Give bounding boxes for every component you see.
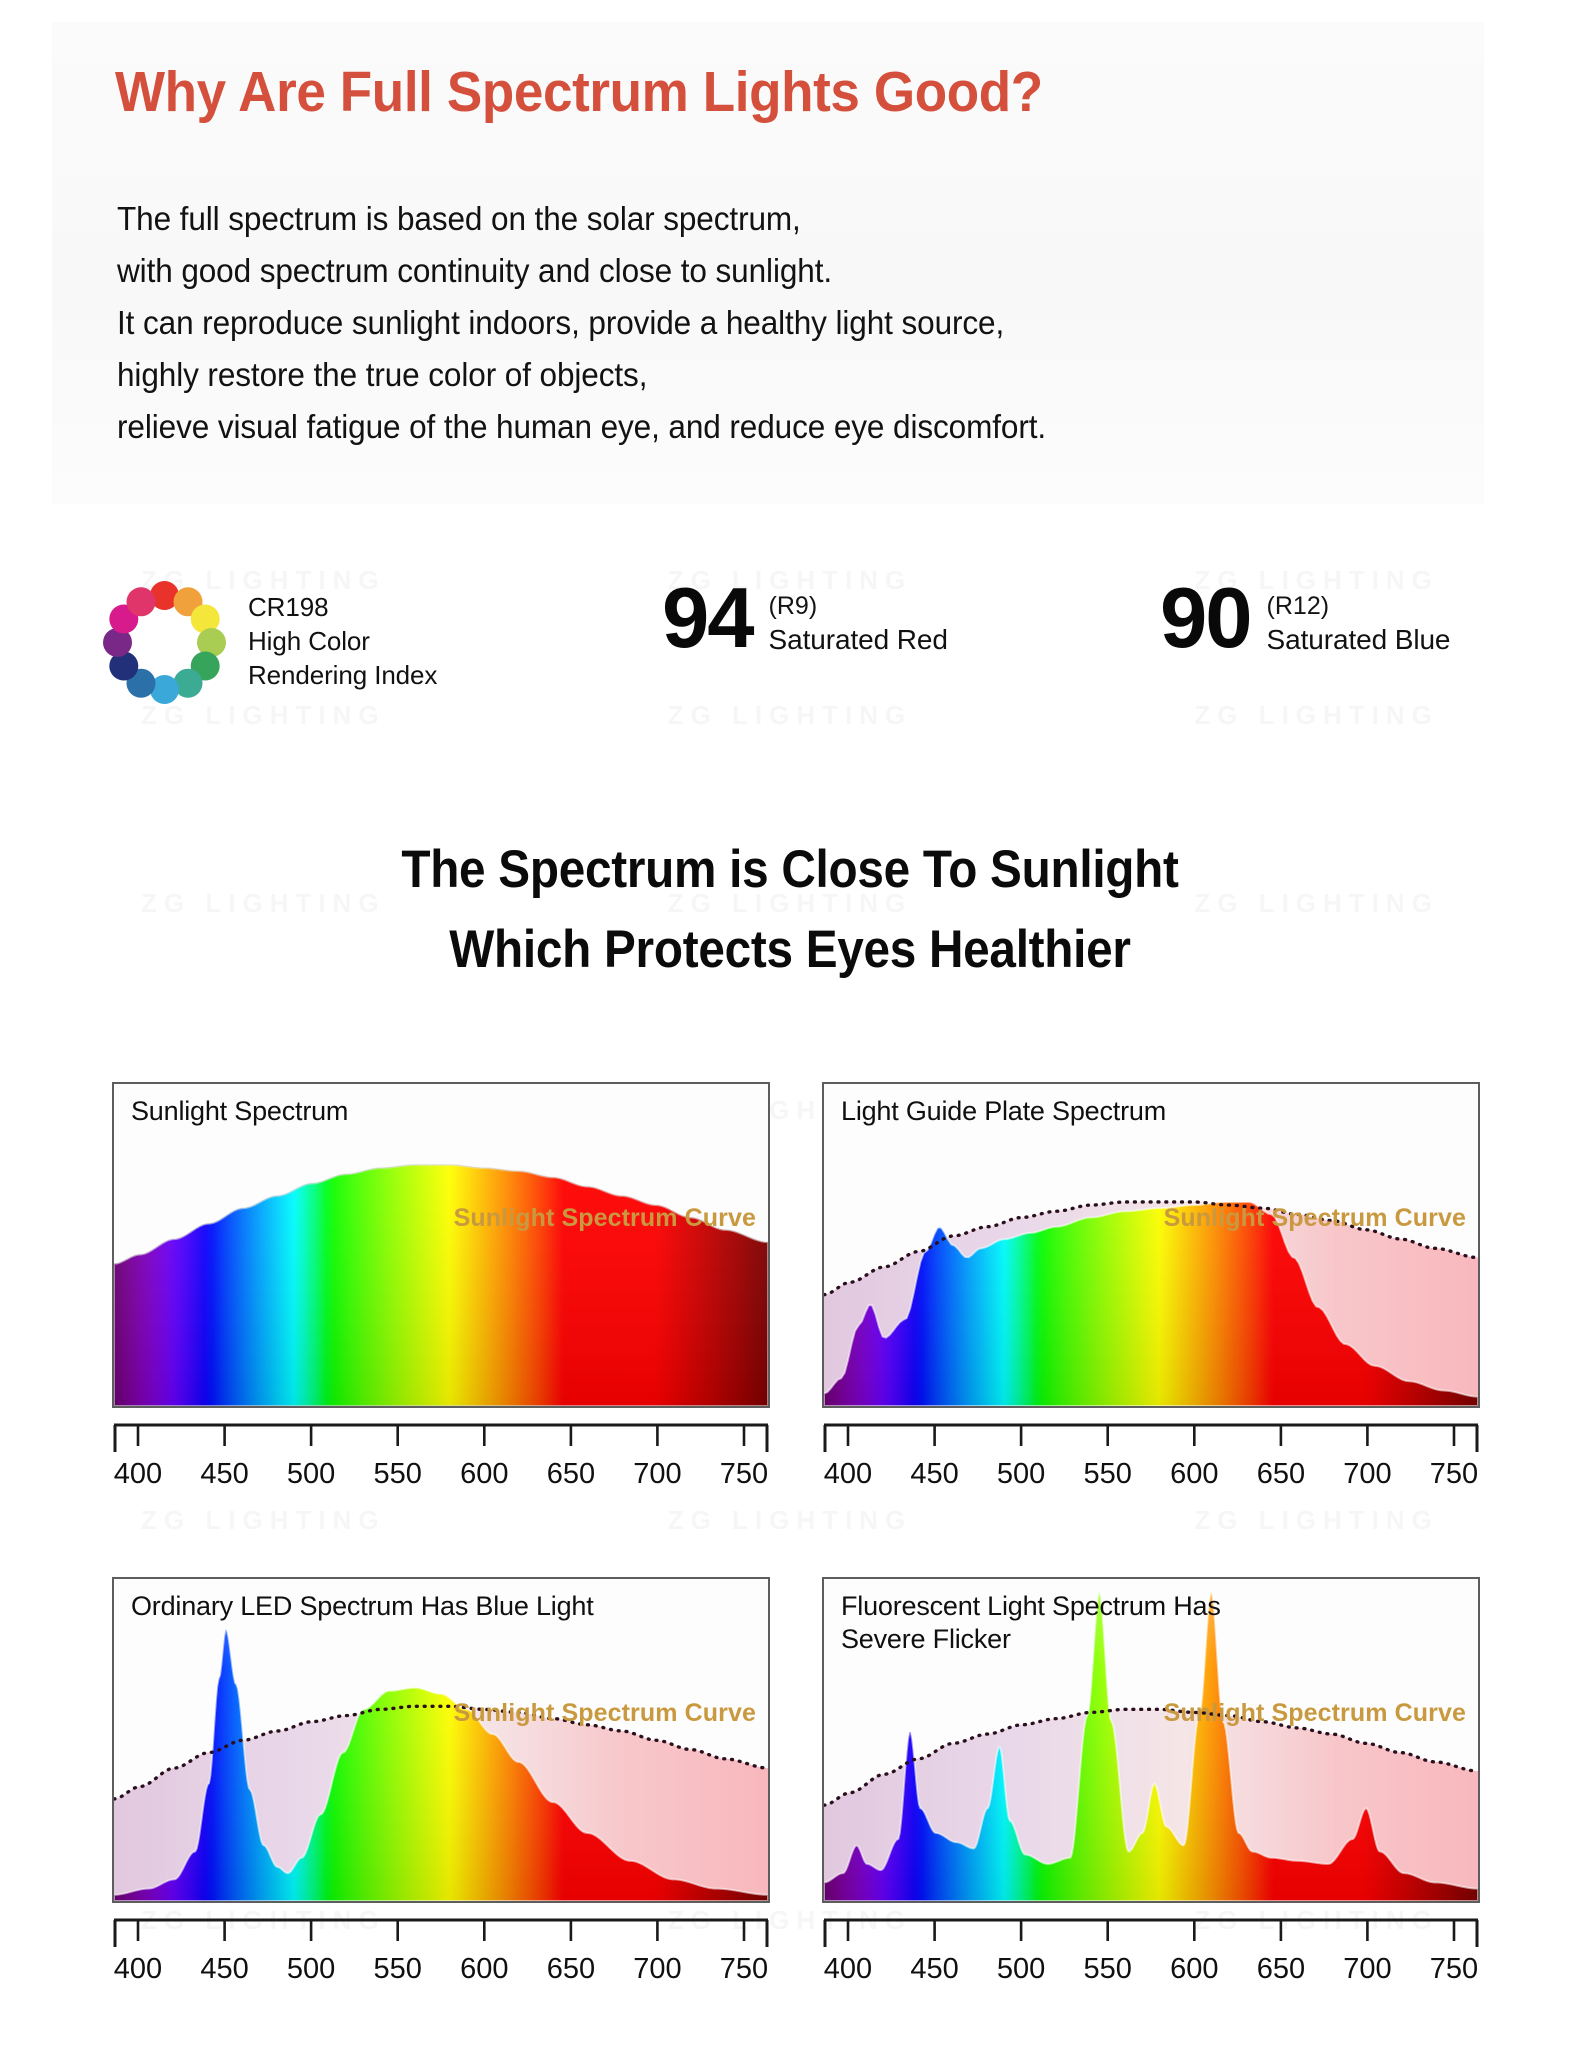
chart-title: Fluorescent Light Spectrum Has Severe Fl…	[841, 1590, 1221, 1656]
axis-tick-label: 550	[373, 1953, 421, 1986]
sunlight-curve-annotation: Sunlight Spectrum Curve	[1164, 1204, 1466, 1233]
chart-row-top: Sunlight Spectrum Sunlight Spectrum Curv…	[0, 1082, 1580, 1577]
chart-cell-fluorescent: Fluorescent Light Spectrum Has Severe Fl…	[822, 1577, 1480, 2005]
x-axis: 400450500550600650700750	[822, 1917, 1480, 2005]
axis-tick-label: 550	[1083, 1458, 1131, 1491]
axis-tick-label: 500	[287, 1953, 335, 1986]
x-axis-ruler	[822, 1917, 1480, 1957]
spectrum-plot-svg	[114, 1084, 768, 1406]
chart-plot-area: Light Guide Plate Spectrum Sunlight Spec…	[822, 1082, 1480, 1408]
intro-line: with good spectrum continuity and close …	[117, 245, 1416, 297]
section-heading: The Spectrum is Close To Sunlight Which …	[0, 830, 1580, 990]
chart-cell-ordinary-led: Ordinary LED Spectrum Has Blue Light Sun…	[112, 1577, 770, 2005]
cri-label-line2: Rendering Index	[248, 659, 437, 693]
chart-cell-light-guide-plate: Light Guide Plate Spectrum Sunlight Spec…	[822, 1082, 1480, 1510]
x-axis-labels: 400450500550600650700750	[822, 1458, 1480, 1502]
axis-tick-label: 700	[1343, 1953, 1391, 1986]
spectrum-chart-grid: Sunlight Spectrum Sunlight Spectrum Curv…	[0, 1082, 1580, 2072]
score-block-r9: 94 (R9) Saturated Red	[662, 578, 948, 660]
axis-tick-label: 650	[547, 1458, 595, 1491]
chart-title: Sunlight Spectrum	[131, 1095, 348, 1128]
axis-tick-label: 700	[633, 1953, 681, 1986]
section-heading-line1: The Spectrum is Close To Sunlight	[79, 830, 1501, 910]
axis-tick-label: 400	[824, 1953, 872, 1986]
axis-tick-label: 750	[1430, 1953, 1478, 1986]
axis-tick-label: 400	[114, 1953, 162, 1986]
cri-block: CR198 High Color Rendering Index	[100, 578, 437, 706]
cri-code: CR198	[248, 591, 437, 625]
spectrum-plot-svg	[114, 1579, 768, 1901]
axis-tick-label: 400	[824, 1458, 872, 1491]
sunlight-curve-annotation: Sunlight Spectrum Curve	[454, 1204, 756, 1233]
axis-tick-label: 450	[910, 1953, 958, 1986]
score-value: 94	[662, 578, 753, 660]
spectrum-band	[114, 1084, 768, 1406]
axis-tick-label: 550	[1083, 1953, 1131, 1986]
chart-title: Light Guide Plate Spectrum	[841, 1095, 1166, 1128]
intro-line: highly restore the true color of objects…	[117, 349, 1416, 401]
page-title: Why Are Full Spectrum Lights Good?	[115, 62, 1043, 124]
sunlight-curve-annotation: Sunlight Spectrum Curve	[454, 1699, 756, 1728]
axis-tick-label: 400	[114, 1458, 162, 1491]
score-code: (R9)	[769, 590, 948, 622]
score-name: Saturated Blue	[1267, 622, 1451, 658]
score-value: 90	[1160, 578, 1251, 660]
chart-plot-area: Fluorescent Light Spectrum Has Severe Fl…	[822, 1577, 1480, 1903]
score-meta: (R9) Saturated Red	[769, 580, 948, 658]
axis-tick-label: 700	[1343, 1458, 1391, 1491]
intro-line: It can reproduce sunlight indoors, provi…	[117, 297, 1416, 349]
axis-tick-label: 450	[200, 1458, 248, 1491]
color-wheel-icon	[100, 578, 228, 706]
stats-strip: CR198 High Color Rendering Index 94 (R9)…	[0, 578, 1580, 706]
score-code: (R12)	[1267, 590, 1451, 622]
x-axis-ruler	[112, 1917, 770, 1957]
axis-tick-label: 550	[373, 1458, 421, 1491]
x-axis-ruler	[112, 1422, 770, 1462]
axis-tick-label: 650	[1257, 1458, 1305, 1491]
intro-line: The full spectrum is based on the solar …	[117, 193, 1416, 245]
intro-line: relieve visual fatigue of the human eye,…	[117, 401, 1416, 453]
axis-tick-label: 650	[1257, 1953, 1305, 1986]
x-axis-labels: 400450500550600650700750	[822, 1953, 1480, 1997]
intro-paragraph: The full spectrum is based on the solar …	[117, 193, 1477, 453]
chart-row-bottom: Ordinary LED Spectrum Has Blue Light Sun…	[0, 1577, 1580, 2072]
color-wheel-dot	[126, 587, 155, 616]
cri-text: CR198 High Color Rendering Index	[248, 591, 437, 692]
axis-tick-label: 500	[997, 1458, 1045, 1491]
x-axis-labels: 400450500550600650700750	[112, 1953, 770, 1997]
axis-tick-label: 600	[1170, 1458, 1218, 1491]
x-axis: 400450500550600650700750	[112, 1917, 770, 2005]
score-name: Saturated Red	[769, 622, 948, 658]
x-axis: 400450500550600650700750	[822, 1422, 1480, 1510]
score-meta: (R12) Saturated Blue	[1267, 580, 1451, 658]
axis-tick-label: 700	[633, 1458, 681, 1491]
axis-tick-label: 750	[720, 1953, 768, 1986]
x-axis-labels: 400450500550600650700750	[112, 1458, 770, 1502]
cri-label-line1: High Color	[248, 625, 437, 659]
axis-tick-label: 450	[200, 1953, 248, 1986]
axis-tick-label: 600	[460, 1458, 508, 1491]
axis-tick-label: 750	[720, 1458, 768, 1491]
chart-plot-area: Ordinary LED Spectrum Has Blue Light Sun…	[112, 1577, 770, 1903]
axis-tick-label: 600	[460, 1953, 508, 1986]
x-axis-ruler	[822, 1422, 1480, 1462]
axis-tick-label: 750	[1430, 1458, 1478, 1491]
section-heading-line2: Which Protects Eyes Healthier	[79, 910, 1501, 990]
axis-tick-label: 650	[547, 1953, 595, 1986]
chart-title: Ordinary LED Spectrum Has Blue Light	[131, 1590, 594, 1623]
chart-cell-sunlight: Sunlight Spectrum Sunlight Spectrum Curv…	[112, 1082, 770, 1510]
score-block-r12: 90 (R12) Saturated Blue	[1160, 578, 1450, 660]
x-axis: 400450500550600650700750	[112, 1422, 770, 1510]
sunlight-curve-annotation: Sunlight Spectrum Curve	[1164, 1699, 1466, 1728]
axis-tick-label: 500	[997, 1953, 1045, 1986]
chart-plot-area: Sunlight Spectrum Sunlight Spectrum Curv…	[112, 1082, 770, 1408]
axis-tick-label: 600	[1170, 1953, 1218, 1986]
axis-tick-label: 500	[287, 1458, 335, 1491]
axis-tick-label: 450	[910, 1458, 958, 1491]
spectrum-plot-svg	[824, 1084, 1478, 1406]
